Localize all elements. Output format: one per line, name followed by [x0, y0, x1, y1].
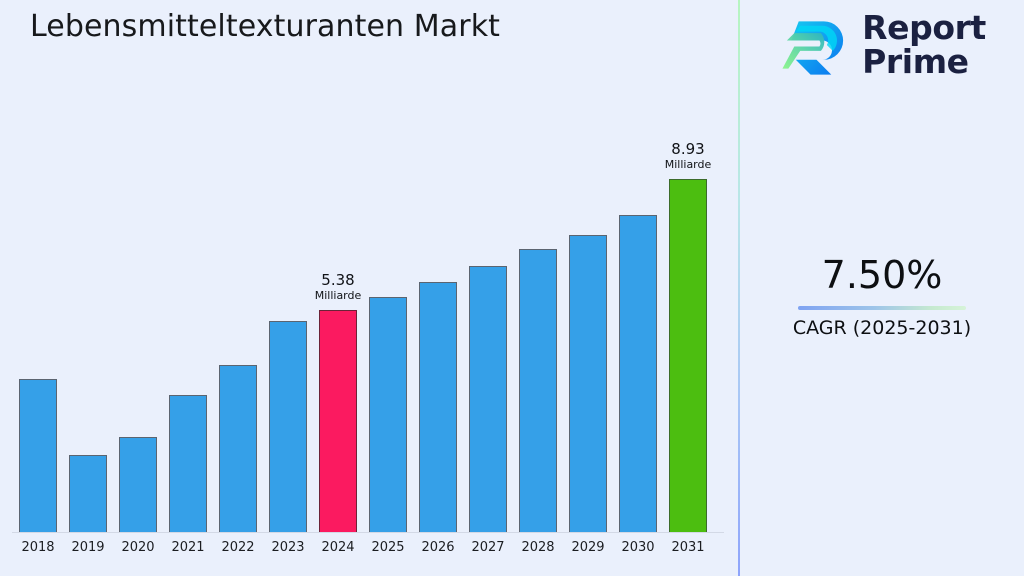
bar-2024[interactable] — [319, 310, 357, 532]
x-axis-tick-2030: 2030 — [619, 540, 657, 555]
bar-2021[interactable] — [169, 395, 207, 532]
x-axis-tick-2020: 2020 — [119, 540, 157, 555]
cagr-block: 7.50% CAGR (2025-2031) — [740, 255, 1024, 339]
side-panel: Report Prime 7.50% CAGR (2025-2031) — [740, 0, 1024, 576]
cagr-value: 7.50% — [740, 255, 1024, 297]
bar-2030[interactable] — [619, 215, 657, 532]
x-axis-tick-2027: 2027 — [469, 540, 507, 555]
x-axis-tick-2024: 2024 — [319, 540, 357, 555]
x-axis-tick-2031: 2031 — [669, 540, 707, 555]
chart-panel: Lebensmitteltexturanten Markt 2018201920… — [0, 0, 738, 576]
brand-wordmark: Report Prime — [862, 11, 986, 78]
x-axis-tick-2028: 2028 — [519, 540, 557, 555]
plot-area: 2018201920202021202220235.38Milliarde202… — [0, 0, 738, 576]
bar-value-unit-2031: Milliarde — [665, 159, 712, 171]
bar-2028[interactable] — [519, 249, 557, 532]
bar-value-label-2024: 5.38Milliarde — [315, 273, 362, 302]
cagr-caption: CAGR (2025-2031) — [740, 317, 1024, 339]
bar-2031[interactable] — [669, 179, 707, 532]
x-axis-tick-2021: 2021 — [169, 540, 207, 555]
bar-2026[interactable] — [419, 282, 457, 532]
bar-2025[interactable] — [369, 297, 407, 532]
bar-value-label-2031: 8.93Milliarde — [665, 142, 712, 171]
bar-2022[interactable] — [219, 365, 257, 532]
x-axis-baseline — [12, 532, 724, 533]
bar-2027[interactable] — [469, 266, 507, 532]
brand-line-2: Prime — [862, 42, 969, 81]
bar-2019[interactable] — [69, 455, 107, 532]
chart-infographic: Lebensmitteltexturanten Markt 2018201920… — [0, 0, 1024, 576]
report-prime-logo-icon — [778, 8, 852, 82]
x-axis-tick-2019: 2019 — [69, 540, 107, 555]
x-axis-tick-2023: 2023 — [269, 540, 307, 555]
x-axis-tick-2026: 2026 — [419, 540, 457, 555]
bar-2029[interactable] — [569, 235, 607, 532]
bar-2018[interactable] — [19, 379, 57, 532]
bar-value-number-2024: 5.38 — [315, 273, 362, 289]
brand-logo: Report Prime — [740, 8, 1024, 82]
x-axis-tick-2022: 2022 — [219, 540, 257, 555]
x-axis-tick-2018: 2018 — [19, 540, 57, 555]
bar-value-number-2031: 8.93 — [665, 142, 712, 158]
bar-value-unit-2024: Milliarde — [315, 290, 362, 302]
cagr-divider — [798, 306, 966, 310]
bar-2020[interactable] — [119, 437, 157, 532]
x-axis-tick-2029: 2029 — [569, 540, 607, 555]
x-axis-tick-2025: 2025 — [369, 540, 407, 555]
bar-2023[interactable] — [269, 321, 307, 532]
